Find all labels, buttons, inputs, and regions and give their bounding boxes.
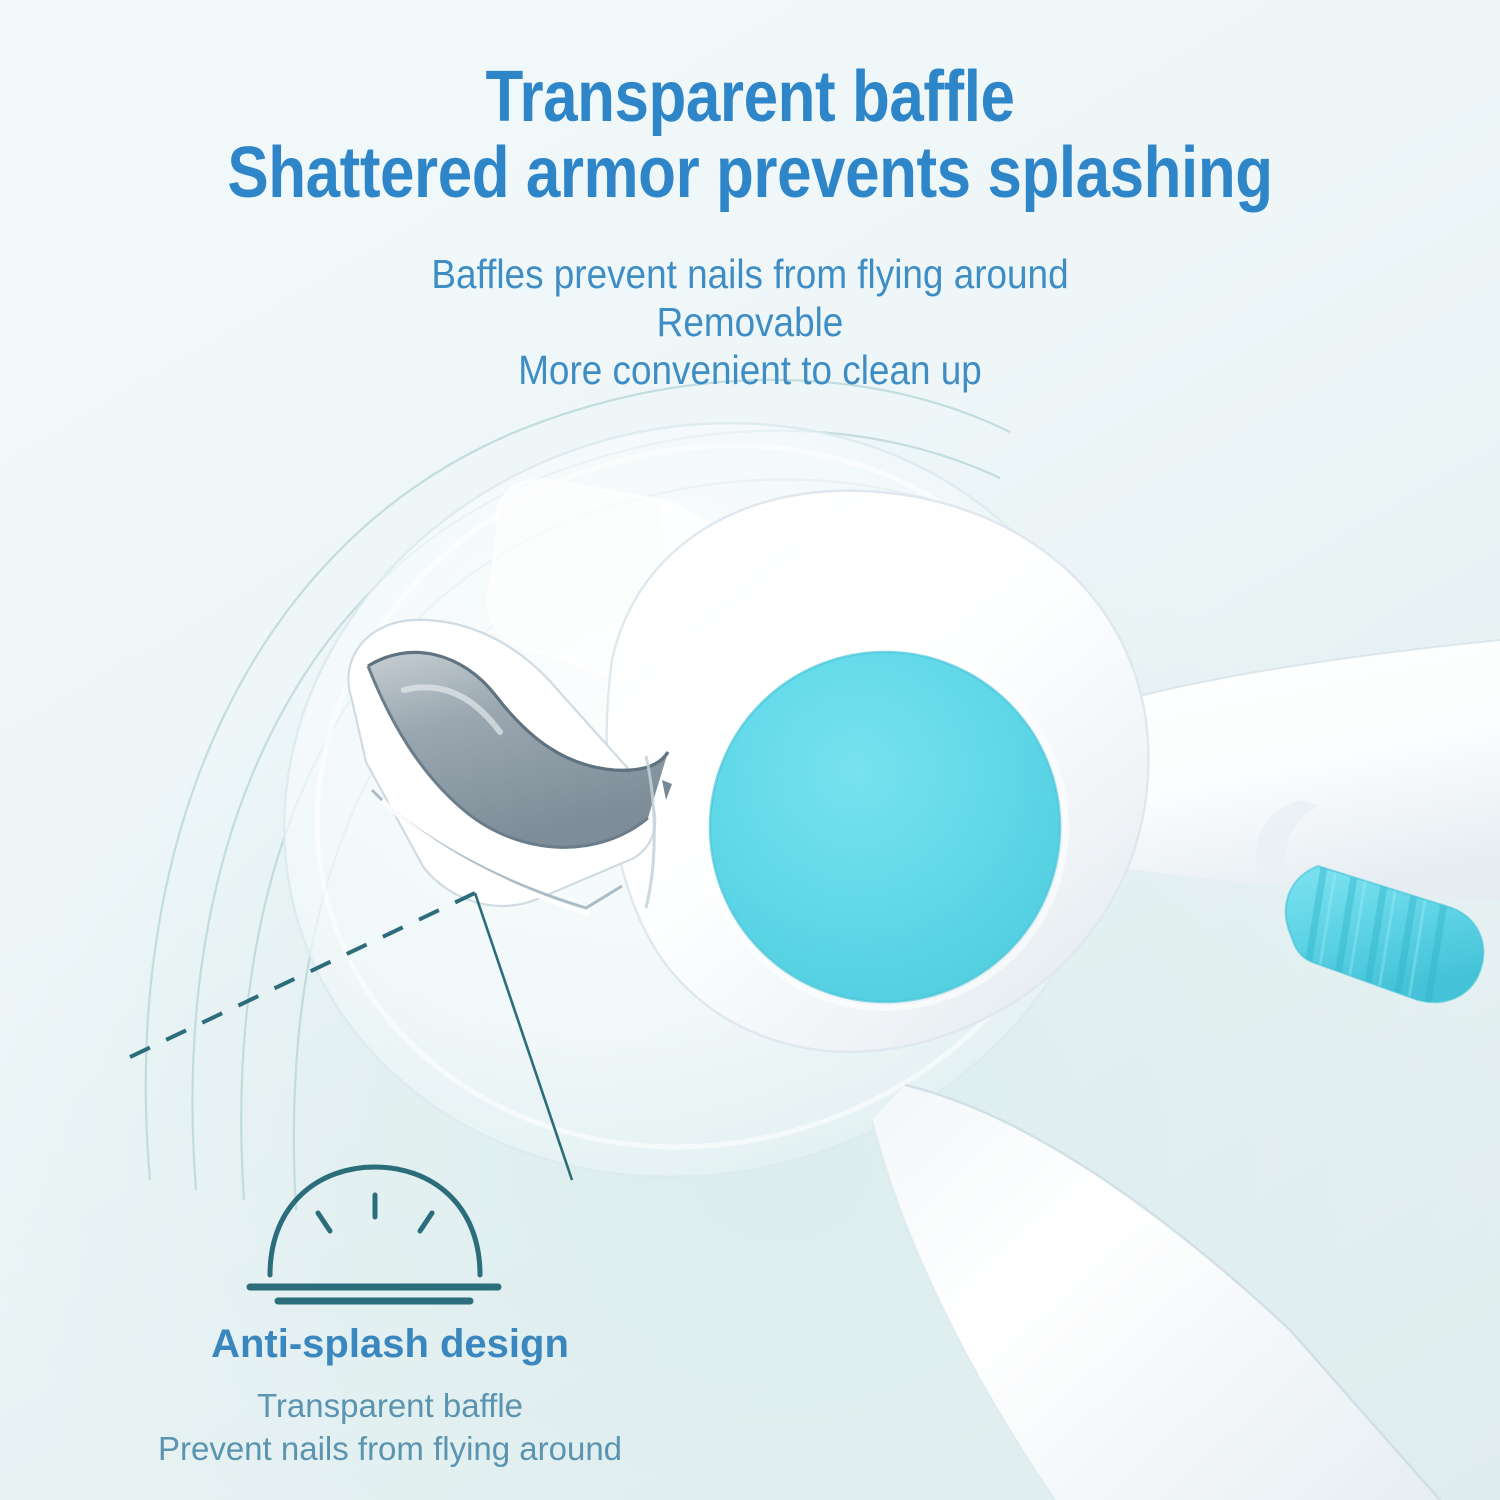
subheadline-line-2: Removable xyxy=(75,297,1425,347)
headline-line-2: Shattered armor prevents splashing xyxy=(105,132,1395,214)
product-feature-poster: Transparent baffle Shattered armor preve… xyxy=(0,0,1500,1500)
callout-title: Anti-splash design xyxy=(110,1320,670,1368)
lower-handle xyxy=(872,1085,1440,1500)
pet-nail-clipper-illustration xyxy=(0,0,1500,1500)
headline-line-1: Transparent baffle xyxy=(105,56,1395,138)
callout-line-1: Transparent baffle xyxy=(110,1385,670,1427)
subheadline-line-3: More convenient to clean up xyxy=(75,345,1425,395)
subheadline-line-1: Baffles prevent nails from flying around xyxy=(75,249,1425,299)
callout-line-2: Prevent nails from flying around xyxy=(110,1428,670,1470)
anti-splash-dome-icon xyxy=(240,1155,510,1305)
cyan-round-button xyxy=(704,646,1066,1008)
